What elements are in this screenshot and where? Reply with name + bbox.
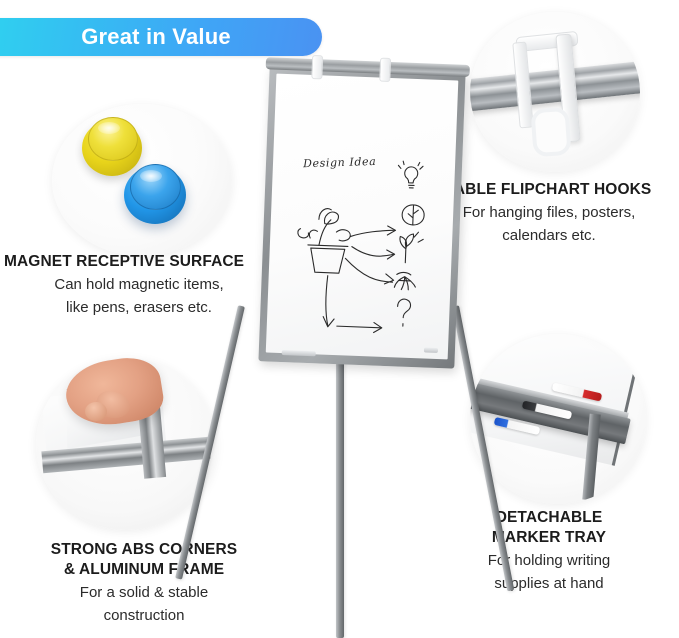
hook-loop [530, 107, 571, 158]
whiteboard-sketch: Design Idea [284, 152, 451, 348]
banner-label: Great in Value [81, 26, 231, 48]
board-tray-lip-right [424, 347, 438, 353]
sketch-svg [284, 152, 451, 348]
whiteboard-surface: Design Idea [266, 74, 459, 360]
easel-leg-left [175, 305, 245, 579]
whiteboard: Design Idea [258, 66, 465, 368]
easel-leg-right [452, 305, 514, 591]
tripod-whiteboard-easel: Design Idea [186, 58, 506, 638]
arrow-sketch [323, 224, 396, 334]
lightbulb-sketch [398, 161, 424, 188]
design-idea-handwriting: Design Idea [303, 155, 377, 170]
flipchart-hook-right-icon [379, 58, 391, 82]
yellow-magnet-highlight [98, 122, 120, 134]
flipchart-hook-left-icon [311, 55, 323, 79]
roots-sketch [394, 272, 416, 290]
sprout-sketch [399, 231, 423, 263]
thumb-tip [85, 402, 107, 421]
leaf-sketch [402, 205, 425, 226]
infographic-canvas: Great in Value MAGNET RECEPTIVE SURFACE … [0, 0, 679, 638]
potted-plant-sketch [296, 208, 351, 274]
great-in-value-banner: Great in Value [0, 18, 322, 56]
blue-magnet-highlight [140, 170, 162, 182]
question-mark-sketch [397, 299, 411, 327]
